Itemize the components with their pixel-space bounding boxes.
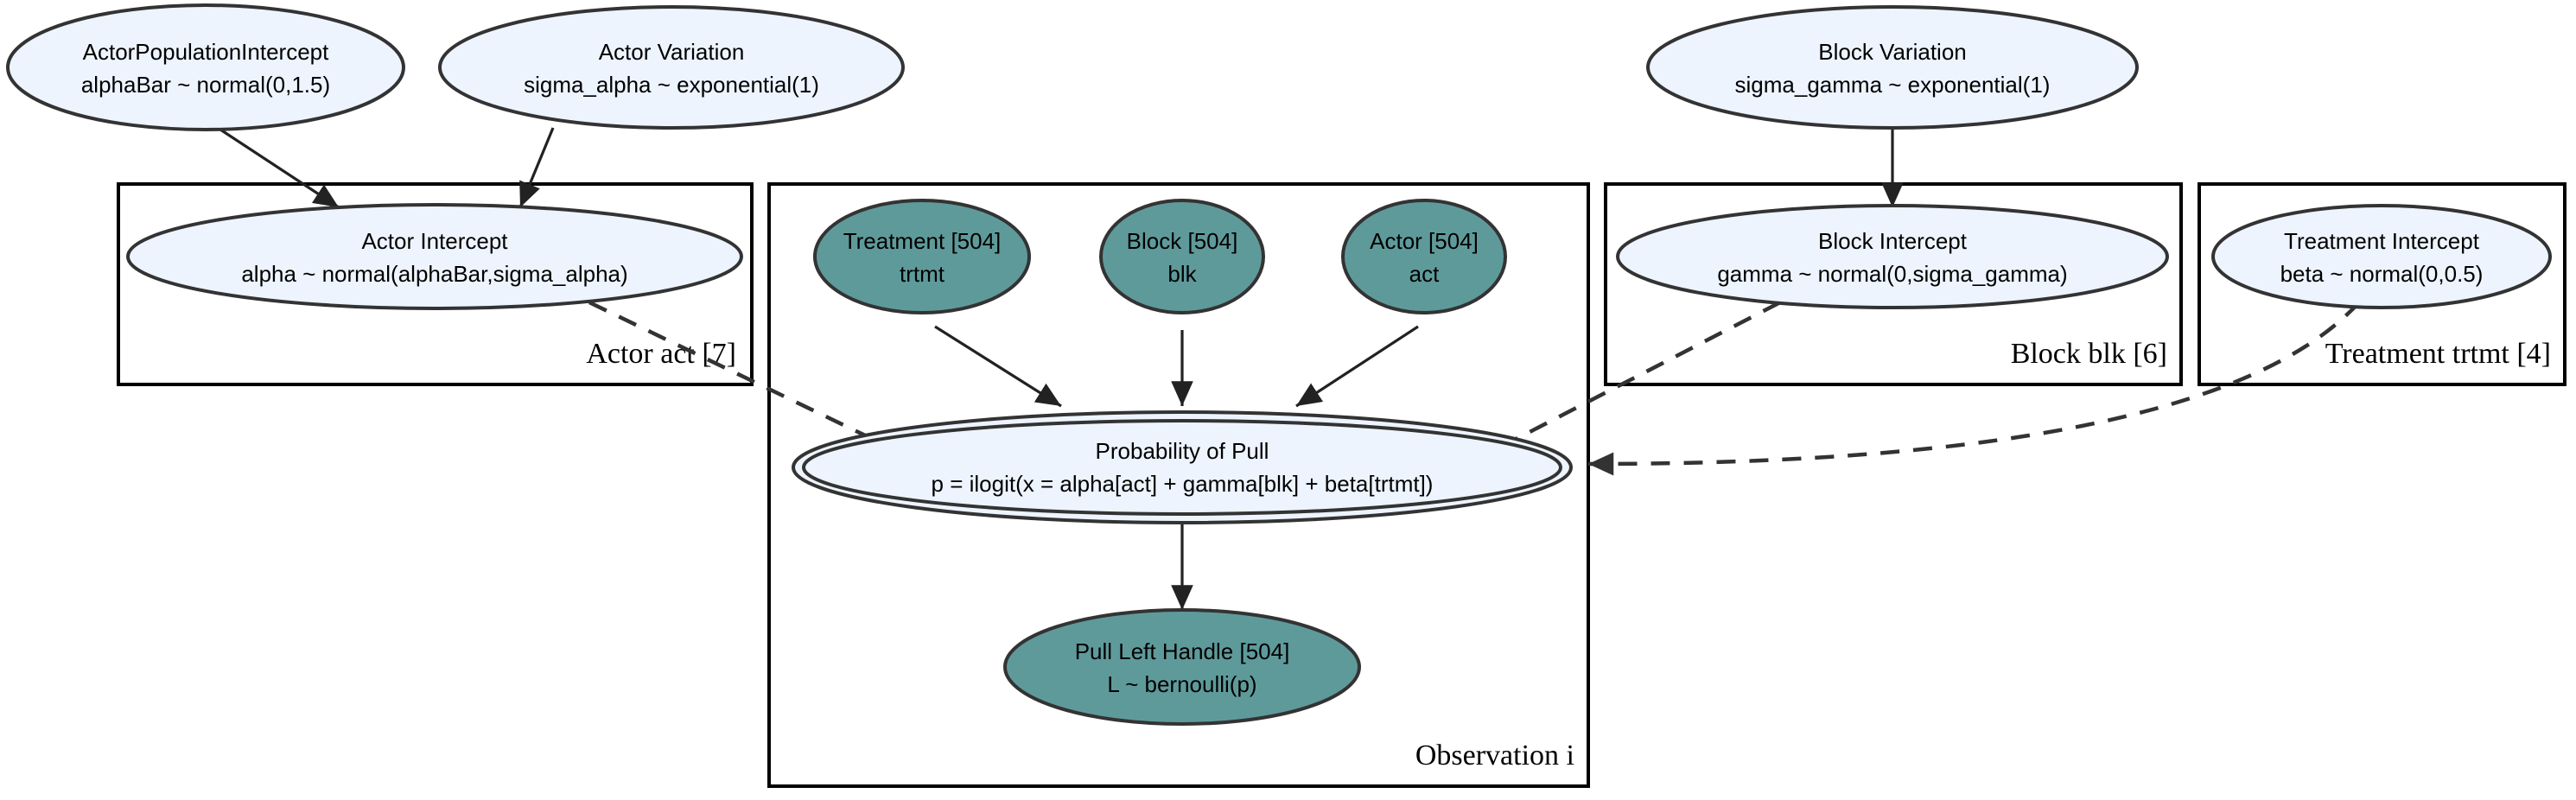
node-actor-intercept[interactable]: Actor Intercept alpha ~ normal(alphaBar,… xyxy=(128,205,741,308)
node-pull-left-handle-line2: L ~ bernoulli(p) xyxy=(1107,671,1256,697)
diagram-svg: Actor act [7] Observation i Block blk [6… xyxy=(0,0,2576,800)
node-pull-left-handle[interactable]: Pull Left Handle [504] L ~ bernoulli(p) xyxy=(1005,610,1359,724)
node-actor-population-intercept[interactable]: ActorPopulationIntercept alphaBar ~ norm… xyxy=(8,5,404,130)
plate-actor-label: Actor act [7] xyxy=(586,338,736,370)
edge-act-to-p xyxy=(1296,327,1418,406)
node-actor-data-shape[interactable] xyxy=(1343,200,1505,313)
node-block-intercept-line1: Block Intercept xyxy=(1818,228,1968,254)
node-probability-of-pull[interactable]: Probability of Pull p = ilogit(x = alpha… xyxy=(793,412,1571,523)
node-pull-left-handle-line1: Pull Left Handle [504] xyxy=(1075,638,1290,664)
node-actor-variation-line1: Actor Variation xyxy=(599,39,745,65)
node-actor-intercept-line2: alpha ~ normal(alphaBar,sigma_alpha) xyxy=(241,261,627,287)
edge-gamma-to-p-dashed xyxy=(1483,302,1780,456)
node-block-variation-line2: sigma_gamma ~ exponential(1) xyxy=(1735,72,2051,98)
plate-treatment-label: Treatment trtmt [4] xyxy=(2325,338,2551,370)
node-actor-population-intercept-line2: alphaBar ~ normal(0,1.5) xyxy=(81,72,330,98)
node-actor-variation-line2: sigma_alpha ~ exponential(1) xyxy=(524,72,819,98)
node-block-data-line1: Block [504] xyxy=(1127,228,1238,254)
node-probability-of-pull-line1: Probability of Pull xyxy=(1096,438,1269,464)
node-actor-population-intercept-line1: ActorPopulationIntercept xyxy=(83,39,330,65)
node-actor-population-intercept-shape[interactable] xyxy=(8,5,404,130)
node-actor-intercept-line1: Actor Intercept xyxy=(361,228,508,254)
node-actor-data-line1: Actor [504] xyxy=(1370,228,1479,254)
node-probability-of-pull-line2: p = ilogit(x = alpha[act] + gamma[blk] +… xyxy=(932,471,1434,497)
node-actor-variation[interactable]: Actor Variation sigma_alpha ~ exponentia… xyxy=(440,7,903,128)
node-block-intercept-shape[interactable] xyxy=(1618,206,2167,308)
node-actor-data-line2: act xyxy=(1409,261,1440,287)
node-treatment-intercept[interactable]: Treatment Intercept beta ~ normal(0,0.5) xyxy=(2213,206,2550,308)
node-treatment-data[interactable]: Treatment [504] trtmt xyxy=(815,200,1029,313)
node-treatment-data-line1: Treatment [504] xyxy=(843,228,1002,254)
edge-sigmaalpha-to-alpha xyxy=(520,128,553,207)
node-treatment-intercept-line1: Treatment Intercept xyxy=(2284,228,2480,254)
edge-alphabar-to-alpha xyxy=(218,128,339,207)
node-actor-intercept-shape[interactable] xyxy=(128,205,741,308)
edge-trtmt-to-p xyxy=(935,327,1061,406)
node-block-variation-line1: Block Variation xyxy=(1818,39,1967,65)
node-probability-of-pull-inner xyxy=(804,421,1561,514)
plate-diagram-canvas: Actor act [7] Observation i Block blk [6… xyxy=(0,0,2576,800)
plate-block-label: Block blk [6] xyxy=(2011,338,2167,370)
node-block-data-line2: blk xyxy=(1167,261,1197,287)
node-block-variation-shape[interactable] xyxy=(1648,7,2137,128)
node-treatment-data-line2: trtmt xyxy=(900,261,945,287)
node-treatment-intercept-shape[interactable] xyxy=(2213,206,2550,308)
node-treatment-intercept-line2: beta ~ normal(0,0.5) xyxy=(2280,261,2484,287)
node-block-intercept[interactable]: Block Intercept gamma ~ normal(0,sigma_g… xyxy=(1618,206,2167,308)
node-block-intercept-line2: gamma ~ normal(0,sigma_gamma) xyxy=(1717,261,2067,287)
node-block-data[interactable]: Block [504] blk xyxy=(1101,200,1263,313)
node-block-data-shape[interactable] xyxy=(1101,200,1263,313)
node-pull-left-handle-shape[interactable] xyxy=(1005,610,1359,724)
node-treatment-data-shape[interactable] xyxy=(815,200,1029,313)
node-actor-variation-shape[interactable] xyxy=(440,7,903,128)
node-actor-data[interactable]: Actor [504] act xyxy=(1343,200,1505,313)
node-block-variation[interactable]: Block Variation sigma_gamma ~ exponentia… xyxy=(1648,7,2137,128)
plate-observation-label: Observation i xyxy=(1415,740,1574,771)
